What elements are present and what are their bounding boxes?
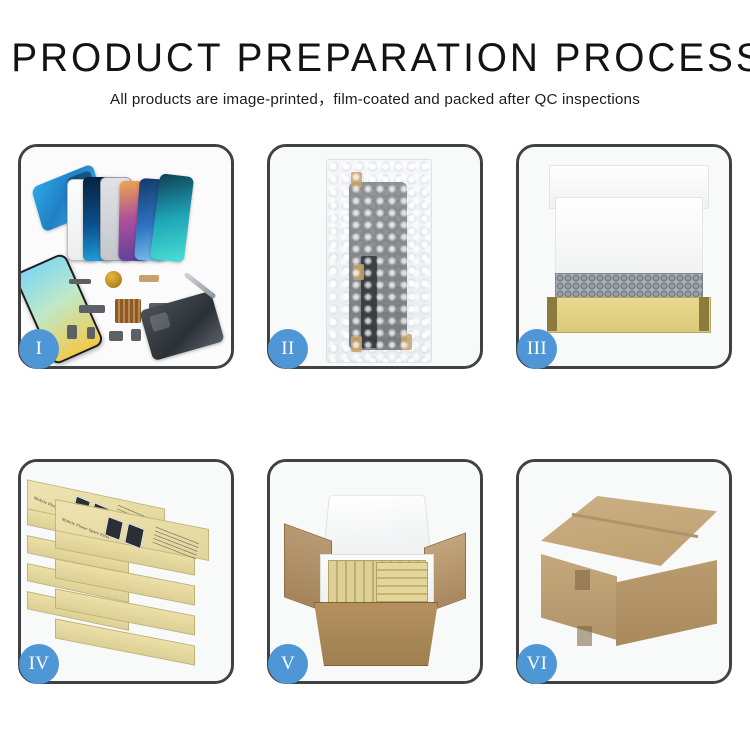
small-part bbox=[67, 325, 77, 339]
adhesive-tab bbox=[351, 336, 362, 352]
adhesive-tab bbox=[353, 264, 364, 280]
retail-box-stack: Mobile Phone Spare Parts Mobile Phone Sp… bbox=[21, 462, 231, 681]
process-step-panel-4[interactable]: Mobile Phone Spare Parts Mobile Phone Sp… bbox=[18, 459, 234, 684]
carton-body bbox=[314, 602, 438, 666]
phone-back-housing bbox=[139, 291, 224, 361]
carton-top-face bbox=[541, 496, 717, 566]
small-part bbox=[131, 329, 141, 341]
small-part bbox=[79, 305, 105, 313]
step-2-photo bbox=[270, 147, 480, 366]
step-badge-4: IV bbox=[19, 644, 59, 684]
small-part bbox=[87, 327, 95, 339]
step-4-photo: Mobile Phone Spare Parts Mobile Phone Sp… bbox=[21, 462, 231, 681]
speaker-component bbox=[105, 271, 122, 288]
kraft-box-side bbox=[699, 297, 709, 331]
carton-tape-mark bbox=[575, 570, 590, 590]
page-title: PRODUCT PREPARATION PROCESS bbox=[11, 0, 739, 78]
box-window-image bbox=[124, 523, 145, 549]
small-part bbox=[139, 275, 159, 282]
phone-lineup bbox=[83, 161, 215, 261]
step-badge-1: I bbox=[19, 329, 59, 369]
process-step-panel-6[interactable]: VI bbox=[516, 459, 732, 684]
carton-tape-mark bbox=[577, 626, 592, 646]
bubble-wrap-bag bbox=[326, 159, 432, 363]
adhesive-tab bbox=[401, 334, 412, 350]
kraft-box-side bbox=[547, 297, 557, 331]
page-header: PRODUCT PREPARATION PROCESS All products… bbox=[0, 0, 750, 107]
packed-retail-boxes bbox=[376, 562, 428, 602]
process-step-panel-2[interactable]: II bbox=[267, 144, 483, 369]
chip-array-component bbox=[115, 299, 141, 323]
adhesive-tab bbox=[351, 172, 362, 188]
carton-right-face bbox=[616, 560, 717, 646]
step-1-photo bbox=[21, 147, 231, 366]
process-step-panel-1[interactable]: I bbox=[18, 144, 234, 369]
kraft-box-front bbox=[547, 297, 711, 333]
step-badge-2: II bbox=[268, 329, 308, 369]
small-part bbox=[69, 279, 91, 284]
step-3-photo bbox=[519, 147, 729, 366]
page-subtitle: All products are image-printed，film-coat… bbox=[0, 78, 750, 107]
step-badge-3: III bbox=[517, 329, 557, 369]
step-5-photo bbox=[270, 462, 480, 681]
process-step-panel-5[interactable]: V bbox=[267, 459, 483, 684]
foam-box-lid bbox=[322, 495, 431, 557]
step-badge-5: V bbox=[268, 644, 308, 684]
small-part bbox=[109, 331, 123, 341]
step-6-photo bbox=[519, 462, 729, 681]
foam-sheet bbox=[555, 197, 703, 277]
process-step-grid: I II III bbox=[18, 144, 733, 684]
step-badge-6: VI bbox=[517, 644, 557, 684]
process-step-panel-3[interactable]: III bbox=[516, 144, 732, 369]
